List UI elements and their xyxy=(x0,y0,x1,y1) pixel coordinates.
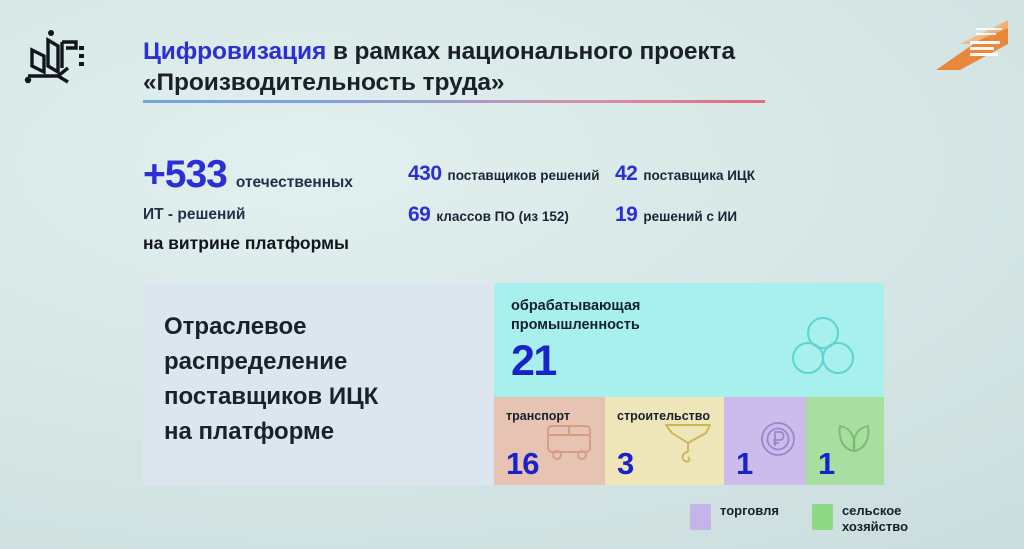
panel-cells: обрабатывающая промышленность 21 транспо… xyxy=(494,283,884,485)
stat-value: 19 xyxy=(615,203,637,227)
cells-bottom-row: транспорт 16 строительство xyxy=(494,397,884,485)
stats-row: 69 классов ПО (из 152) 19 решений с ИИ xyxy=(408,203,808,227)
stat-label: классов ПО (из 152) xyxy=(430,209,569,224)
page-title: Цифровизация в рамках национального прое… xyxy=(143,36,783,98)
stat-value: 69 xyxy=(408,203,430,227)
ruble-coin-icon xyxy=(754,415,802,463)
cell-value: 1 xyxy=(736,447,752,481)
stats-row: 430 поставщиков решений 42 поставщика ИЦ… xyxy=(408,162,808,186)
stat-item-icc-suppliers: 42 поставщика ИЦК xyxy=(615,162,755,186)
legend-label: торговля xyxy=(720,503,779,519)
cell-construction: строительство 3 xyxy=(605,397,724,485)
title-line-1-rest: в рамках национального проекта xyxy=(326,38,735,65)
stat-item-suppliers: 430 поставщиков решений xyxy=(408,162,615,186)
title-underline-rule xyxy=(143,100,765,103)
legend-item-trade: торговля xyxy=(690,503,779,530)
национальные-проекты-россии-logo xyxy=(930,14,1012,76)
stat-label: поставщика ИЦК xyxy=(637,168,755,183)
stats-details: 430 поставщиков решений 42 поставщика ИЦ… xyxy=(408,162,808,244)
cell-agriculture: 1 xyxy=(806,397,884,485)
panel-title-line: Отраслевое xyxy=(164,309,494,344)
stat-item-ai-solutions: 19 решений с ИИ xyxy=(615,203,737,227)
cell-manufacturing: обрабатывающая промышленность 21 xyxy=(494,283,884,397)
title-line-1: Цифровизация в рамках национального прое… xyxy=(143,36,783,67)
cell-trade: 1 xyxy=(724,397,806,485)
cell-value: 3 xyxy=(617,447,633,481)
stats-big-number-suffix: отечественных xyxy=(227,174,353,192)
panel-title-line: распределение xyxy=(164,344,494,379)
stat-item-software-classes: 69 классов ПО (из 152) xyxy=(408,203,615,227)
panel-title-line: на платформе xyxy=(164,414,494,449)
stat-label: поставщиков решений xyxy=(442,168,600,183)
stats-band: +533отечественных ИТ - решений на витрин… xyxy=(0,140,1024,260)
crane-hook-icon xyxy=(662,419,714,469)
industry-distribution-panel: Отраслевое распределение поставщиков ИЦК… xyxy=(143,283,884,485)
panel-title-line: поставщиков ИЦК xyxy=(164,379,494,414)
stats-big-number: +533 xyxy=(143,153,227,197)
stats-summary-line-3: на витрине платформы xyxy=(143,233,373,254)
цифровые-технологии-logo xyxy=(18,20,90,88)
stats-summary: +533отечественных ИТ - решений на витрин… xyxy=(143,153,373,254)
title-accent-word: Цифровизация xyxy=(143,38,326,65)
legend-swatch xyxy=(690,504,711,530)
leaves-icon xyxy=(830,413,878,461)
cell-caption-line: транспорт xyxy=(494,397,605,426)
stats-summary-line-2: ИТ - решений xyxy=(143,206,373,224)
panel-title-cell: Отраслевое распределение поставщиков ИЦК… xyxy=(143,283,494,485)
cell-value: 16 xyxy=(506,447,538,481)
legend-swatch xyxy=(812,504,833,530)
three-circles-icon xyxy=(788,312,858,382)
stat-value: 42 xyxy=(615,162,637,186)
stat-value: 430 xyxy=(408,162,442,186)
title-line-2: «Производительность труда» xyxy=(143,67,783,98)
stats-headline-row: +533отечественных xyxy=(143,153,373,197)
legend: торговля сельское хозяйство xyxy=(690,503,908,535)
slide-header: Цифровизация в рамках национального прое… xyxy=(0,0,1024,120)
cell-transport: транспорт 16 xyxy=(494,397,605,485)
legend-label: сельское хозяйство xyxy=(842,503,908,535)
legend-item-agriculture: сельское хозяйство xyxy=(812,503,908,535)
bus-icon xyxy=(543,423,597,463)
stat-label: решений с ИИ xyxy=(637,209,737,224)
